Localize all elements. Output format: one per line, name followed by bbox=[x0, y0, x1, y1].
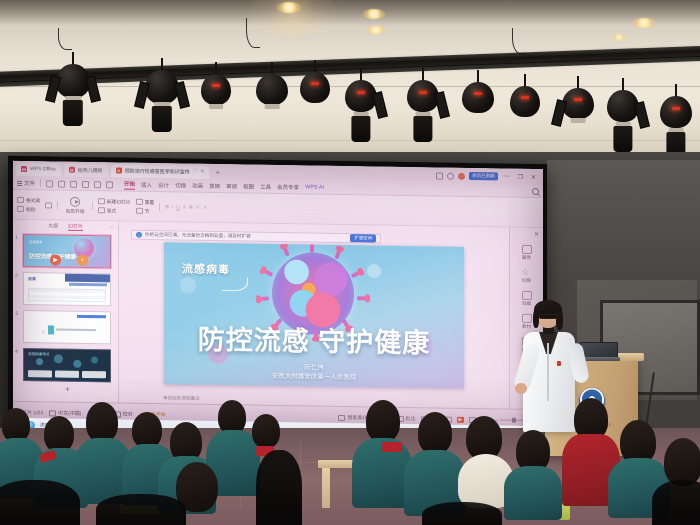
slide-number: 1 bbox=[15, 235, 18, 241]
ribbon-tabs: 开始 插入 设计 切换 动画 放映 审阅 视图 工具 会员专享 WPS AI bbox=[124, 180, 324, 193]
slide-headline: 防控流感 守护健康 bbox=[174, 326, 454, 357]
stage-light bbox=[345, 68, 377, 122]
list-item[interactable]: 2 目录 bbox=[23, 272, 114, 306]
text-shadow-button[interactable]: A bbox=[183, 204, 186, 210]
thumb-title: 流感病毒特点 bbox=[28, 352, 50, 357]
ribbon-tab-tools[interactable]: 工具 bbox=[260, 183, 271, 191]
student-head bbox=[366, 400, 400, 442]
wps-logo-icon: W bbox=[21, 166, 27, 172]
ceiling-downlight bbox=[276, 2, 302, 13]
new-slide-button[interactable]: 新建幻灯片 bbox=[98, 198, 131, 206]
reset-button[interactable]: 重置 bbox=[136, 198, 155, 205]
font-color-button[interactable]: A bbox=[204, 204, 207, 210]
eyeglasses bbox=[539, 314, 558, 319]
slides-group: 新建幻灯片 版式 bbox=[98, 198, 131, 215]
student-head bbox=[132, 412, 162, 448]
heart-icon[interactable]: ♡ bbox=[193, 169, 197, 175]
auditorium-scene: W WPS Office D 稻壳儿模板 P 预防流行性感冒医学知识宣传 ♡ ✕… bbox=[0, 0, 700, 525]
stage-light bbox=[56, 52, 90, 108]
dock-item-label: 属性 bbox=[522, 255, 531, 261]
gesturing-hand bbox=[515, 383, 527, 394]
ribbon-tab-view[interactable]: 视图 bbox=[243, 182, 254, 190]
maximize-button[interactable]: ❐ bbox=[516, 173, 525, 180]
stage-light bbox=[607, 78, 639, 132]
brush-icon bbox=[17, 197, 24, 203]
thumb-eyebrow: 流感病毒 bbox=[29, 239, 43, 244]
paste-button[interactable]: 粘贴 bbox=[17, 205, 40, 212]
slide-thumbnail-3[interactable]: 1 bbox=[23, 310, 111, 344]
student-head bbox=[86, 402, 118, 442]
new-slide-label: 新建幻灯片 bbox=[107, 198, 131, 205]
italic-button[interactable]: I bbox=[172, 204, 173, 210]
ribbon-tab-slideshow[interactable]: 放映 bbox=[209, 182, 220, 190]
tab-slides[interactable]: 幻灯片 bbox=[68, 222, 83, 230]
dock-item-label: 切换 bbox=[522, 278, 531, 284]
print-preview-icon[interactable] bbox=[70, 180, 77, 187]
stage-light bbox=[201, 62, 231, 114]
ceiling-downlight bbox=[362, 9, 386, 19]
list-item[interactable]: 1 流感病毒 防控流感 守护健康 ▶ + bbox=[23, 234, 114, 268]
file-menu-button[interactable]: 文件 bbox=[17, 179, 35, 187]
hamburger-icon bbox=[17, 180, 22, 185]
thumb-table bbox=[28, 288, 106, 302]
slide-number: 4 bbox=[15, 349, 18, 355]
student-head bbox=[252, 414, 280, 448]
student-head bbox=[418, 412, 452, 454]
properties-icon bbox=[522, 245, 532, 254]
ribbon-tab-transition[interactable]: 切换 bbox=[175, 181, 186, 189]
wps-office-window: W WPS Office D 稻壳儿模板 P 预防流行性感冒医学知识宣传 ♡ ✕… bbox=[13, 161, 543, 431]
close-icon[interactable]: ✕ bbox=[200, 169, 204, 175]
section-button[interactable]: 节 bbox=[136, 207, 155, 214]
minimize-button[interactable]: — bbox=[502, 174, 512, 180]
wps-ai-button[interactable]: WPS AI bbox=[305, 184, 324, 190]
reset-group: 重置 节 bbox=[136, 198, 155, 214]
ribbon-tab-animation[interactable]: 动画 bbox=[192, 182, 203, 190]
close-icon[interactable]: ✕ bbox=[510, 231, 543, 239]
format-painter-label: 格式刷 bbox=[26, 197, 40, 204]
strikethrough-button[interactable]: S bbox=[189, 204, 192, 210]
notification-text: 你的云空间已满，无法备份文档到云盘，请及时扩容 bbox=[145, 232, 251, 240]
save-icon[interactable] bbox=[46, 180, 53, 187]
transition-icon: ☆ bbox=[522, 268, 532, 277]
layout-label: 版式 bbox=[107, 207, 117, 214]
tab-presentation-file[interactable]: P 预防流行性感冒医学知识宣传 ♡ ✕ bbox=[111, 164, 210, 179]
tab-label: WPS Office bbox=[30, 166, 56, 172]
slide-thumbnail-2[interactable]: 目录 bbox=[23, 272, 111, 306]
tab-wps-office[interactable]: W WPS Office bbox=[16, 162, 61, 176]
bold-button[interactable]: B bbox=[165, 204, 169, 210]
id-badge bbox=[557, 361, 561, 366]
thumb-title: 目录 bbox=[28, 276, 36, 282]
tab-label: 预防流行性感冒医学知识宣传 bbox=[125, 167, 190, 175]
slide-canvas[interactable]: 流感病毒 防控流感 守护健康 阮仁伟 安医大附属安庆第一人民医院 bbox=[119, 222, 509, 409]
stage-light bbox=[660, 84, 692, 138]
stage-light bbox=[145, 58, 179, 114]
student-head bbox=[664, 438, 700, 486]
member-badge[interactable]: 会员已到期 bbox=[469, 172, 498, 180]
list-item[interactable]: 3 1 bbox=[23, 310, 114, 344]
tab-outline[interactable]: 大纲 bbox=[48, 222, 58, 229]
stage-light bbox=[256, 62, 288, 114]
slide-thumbnail-4[interactable]: 流感病毒特点 bbox=[23, 348, 111, 382]
new-slide-icon bbox=[98, 198, 105, 204]
stage-light bbox=[407, 68, 439, 122]
reset-icon bbox=[136, 199, 143, 205]
dock-item-transition[interactable]: ☆ 切换 bbox=[510, 268, 543, 285]
new-tab-button[interactable]: + bbox=[212, 167, 223, 176]
play-overlay-button[interactable]: ▶ bbox=[50, 254, 61, 265]
dock-template-icon: D bbox=[69, 167, 75, 173]
avatar[interactable] bbox=[458, 172, 465, 179]
search-icon[interactable] bbox=[532, 187, 539, 194]
underline-button[interactable]: U bbox=[176, 204, 180, 210]
ceiling-downlight bbox=[632, 18, 656, 28]
play-icon bbox=[70, 196, 80, 206]
slide-thumbnail-1[interactable]: 流感病毒 防控流感 守护健康 ▶ + bbox=[23, 234, 111, 268]
tab-dock-template[interactable]: D 稻壳儿模板 bbox=[64, 163, 108, 177]
layout-button[interactable]: 版式 bbox=[98, 207, 131, 215]
thumbnail-panel-tabs: 大纲 幻灯片 ‹ bbox=[13, 220, 118, 233]
slide-number: 3 bbox=[15, 311, 18, 317]
layout-grid-icon bbox=[98, 207, 105, 213]
student-uniform bbox=[504, 466, 562, 520]
stage-light bbox=[510, 74, 540, 126]
reset-label: 重置 bbox=[145, 198, 155, 205]
thumb-title bbox=[56, 329, 96, 332]
stage-light bbox=[462, 70, 494, 122]
ribbon-tab-member[interactable]: 会员专享 bbox=[277, 183, 299, 191]
section-label: 节 bbox=[145, 207, 150, 214]
add-overlay-button[interactable]: + bbox=[77, 255, 88, 266]
section-icon bbox=[136, 208, 143, 214]
paste-label: 粘贴 bbox=[26, 206, 36, 213]
cut-icon[interactable] bbox=[45, 202, 52, 208]
clipboard-group: 格式刷 粘贴 bbox=[17, 196, 40, 212]
chevron-left-icon[interactable]: ‹ bbox=[111, 224, 113, 230]
redo-icon[interactable] bbox=[106, 181, 113, 188]
font-tools-group: B I U A S X² A bbox=[165, 204, 207, 211]
slide-eyebrow: 流感病毒 bbox=[182, 260, 230, 277]
ppt-file-icon: P bbox=[116, 167, 122, 173]
layout-icon[interactable] bbox=[436, 172, 443, 179]
tab-label: 稻壳儿模板 bbox=[78, 166, 103, 173]
list-item[interactable]: 4 流感病毒特点 bbox=[23, 348, 114, 382]
current-slide[interactable]: 流感病毒 防控流感 守护健康 阮仁伟 安医大附属安庆第一人民医院 bbox=[164, 242, 464, 389]
ceiling bbox=[0, 0, 700, 160]
stage-light bbox=[562, 76, 594, 128]
ribbon-tab-design[interactable]: 设计 bbox=[158, 181, 169, 189]
projection-screen: W WPS Office D 稻壳儿模板 P 预防流行性感冒医学知识宣传 ♡ ✕… bbox=[8, 156, 547, 437]
dock-item-properties[interactable]: 属性 bbox=[510, 245, 543, 262]
slide-thumbnail-panel: 大纲 幻灯片 ‹ 1 流感病毒 防控流感 守护健康 ▶ + bbox=[13, 220, 119, 403]
file-menu-label: 文件 bbox=[24, 179, 35, 187]
ribbon-tab-insert[interactable]: 插入 bbox=[141, 181, 152, 189]
ceiling-downlight bbox=[612, 34, 626, 41]
print-icon[interactable] bbox=[58, 180, 65, 187]
share-icon[interactable] bbox=[82, 180, 89, 187]
present-from-current-button[interactable]: 当页开始 bbox=[63, 196, 86, 214]
ribbon-tab-review[interactable]: 审阅 bbox=[226, 182, 237, 190]
animation-icon bbox=[522, 291, 532, 300]
student-head bbox=[2, 408, 30, 442]
stage-light bbox=[300, 60, 330, 112]
superscript-button[interactable]: X² bbox=[196, 204, 201, 210]
undo-icon[interactable] bbox=[94, 181, 101, 188]
slide-number: 2 bbox=[15, 273, 18, 279]
expand-storage-button[interactable]: 扩容空间 bbox=[350, 234, 376, 242]
audience bbox=[0, 398, 700, 525]
settings-icon[interactable] bbox=[447, 172, 454, 179]
present-label: 当页开始 bbox=[65, 207, 84, 214]
student-head bbox=[218, 400, 246, 434]
format-painter-button[interactable]: 格式刷 bbox=[17, 196, 40, 203]
window-close-button[interactable]: ✕ bbox=[529, 173, 538, 180]
clipboard-icon bbox=[17, 206, 24, 212]
ribbon-tab-home[interactable]: 开始 bbox=[124, 180, 135, 190]
info-icon: i bbox=[136, 232, 142, 238]
add-slide-button[interactable]: + bbox=[13, 381, 118, 395]
ceiling-downlight bbox=[366, 26, 386, 34]
student-head bbox=[44, 416, 74, 452]
